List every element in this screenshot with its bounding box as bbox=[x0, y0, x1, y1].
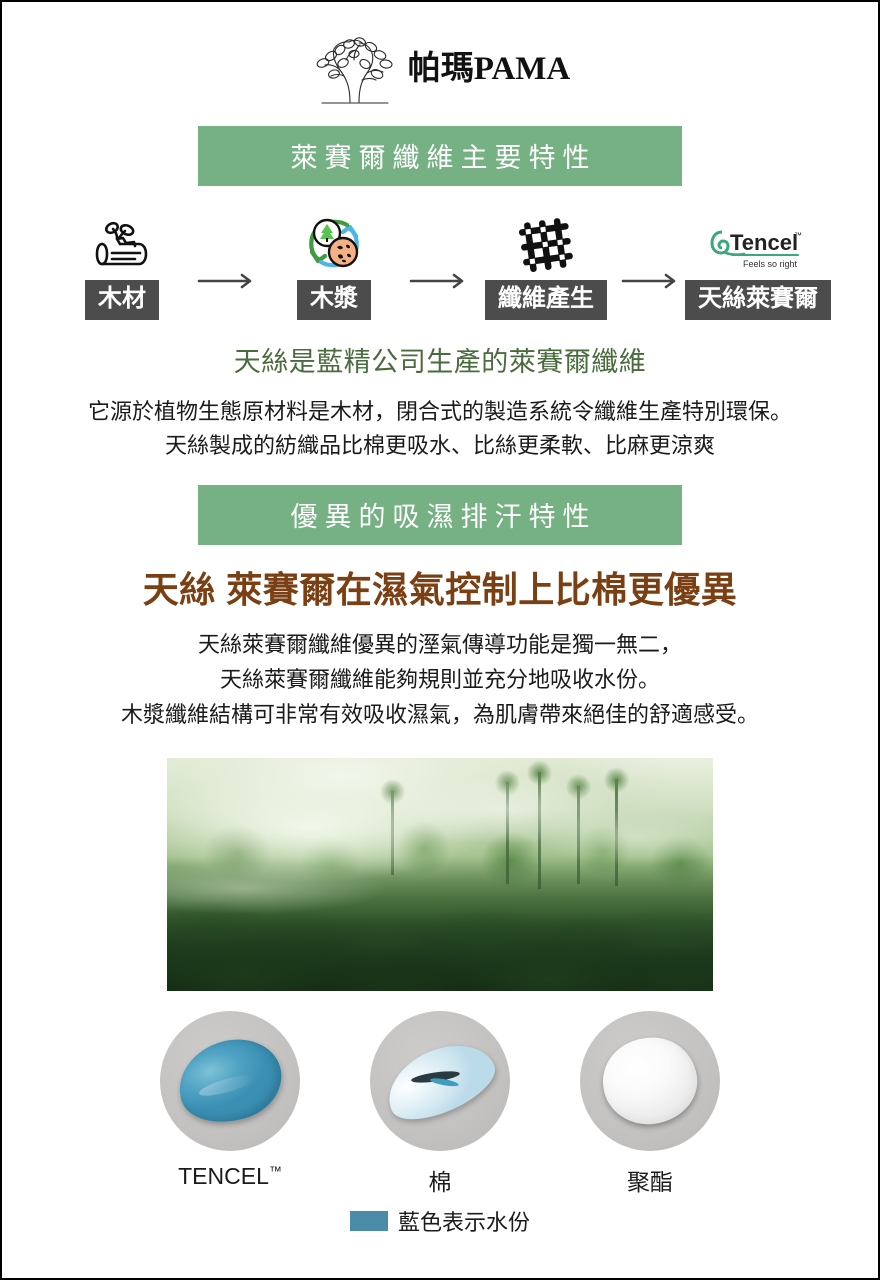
white-round-fiber-cross-section bbox=[597, 1032, 702, 1130]
legend-label: 藍色表示水份 bbox=[398, 1205, 530, 1237]
moisture-legend: 藍色表示水份 bbox=[2, 1205, 878, 1237]
fiber-disc-tencel bbox=[160, 1011, 300, 1151]
arrow-right-icon-3 bbox=[619, 248, 685, 314]
fiber-disc-polyester bbox=[580, 1011, 720, 1151]
forest-canopy-front bbox=[167, 912, 713, 991]
fiber-label-cotton: 棉 bbox=[370, 1163, 510, 1197]
fiber-sample-tencel: TENCEL™ bbox=[160, 1011, 300, 1190]
section-banner-moisture: 優異的吸濕排汗特性 bbox=[198, 485, 682, 545]
fiber-label-tencel-tm: ™ bbox=[269, 1164, 282, 1179]
solid-blue-oval-fiber-cross-section bbox=[169, 1029, 291, 1135]
detail-line-2: 天絲萊賽爾纖維能夠規則並充分地吸收水份。 bbox=[2, 662, 878, 697]
detail-paragraph: 天絲萊賽爾纖維優異的溼氣傳導功能是獨一無二， 天絲萊賽爾纖維能夠規則並充分地吸收… bbox=[2, 627, 878, 733]
forest-photo bbox=[167, 758, 713, 991]
fiber-sample-polyester: 聚酯 bbox=[580, 1011, 720, 1197]
brand-header: 帕瑪PAMA bbox=[2, 2, 878, 114]
flow-label-pulp: 木漿 bbox=[297, 280, 371, 320]
flow-step-pulp: 木漿 bbox=[261, 208, 407, 320]
flow-step-fiber: 纖維產生 bbox=[473, 208, 619, 320]
infographic-page: 帕瑪PAMA 萊賽爾纖維主要特性 木材 bbox=[0, 0, 880, 1280]
tencel-trademark: ™ bbox=[794, 231, 802, 240]
tencel-logo-icon: Tencel ™ Feels so right bbox=[706, 208, 810, 274]
arrow-right-icon-2 bbox=[407, 248, 473, 314]
intro-line-1: 它源於植物生態原材料是木材，閉合式的製造系統令纖維生產特別環保。 bbox=[2, 395, 878, 429]
recycle-pulp-icon bbox=[303, 208, 365, 274]
fiber-label-tencel-text: TENCEL bbox=[178, 1163, 269, 1189]
tencel-wordmark: Tencel bbox=[730, 230, 798, 255]
log-wood-icon bbox=[90, 208, 154, 274]
flow-label-wood: 木材 bbox=[85, 280, 159, 320]
flow-step-tencel: Tencel ™ Feels so right 天絲萊賽爾 bbox=[685, 208, 831, 320]
flow-label-fiber: 纖維產生 bbox=[485, 280, 607, 320]
detail-line-1: 天絲萊賽爾纖維優異的溼氣傳導功能是獨一無二， bbox=[2, 627, 878, 662]
fiber-label-polyester: 聚酯 bbox=[580, 1163, 720, 1197]
intro-paragraph: 它源於植物生態原材料是木材，閉合式的製造系統令纖維生產特別環保。 天絲製成的紡織… bbox=[2, 395, 878, 463]
flow-step-wood: 木材 bbox=[49, 208, 195, 320]
fiber-sample-cotton: 棉 bbox=[370, 1011, 510, 1197]
fiber-label-tencel: TENCEL™ bbox=[160, 1163, 300, 1190]
tree-line-art-icon bbox=[310, 30, 402, 108]
legend-color-swatch bbox=[350, 1211, 388, 1231]
page-heading-moisture: 天絲 萊賽爾在濕氣控制上比棉更優異 bbox=[2, 561, 878, 613]
arrow-right-icon bbox=[195, 248, 261, 314]
process-flow: 木材 bbox=[2, 208, 878, 320]
brand-name: 帕瑪PAMA bbox=[408, 53, 571, 86]
fiber-disc-cotton bbox=[370, 1011, 510, 1151]
flow-label-tencel: 天絲萊賽爾 bbox=[685, 280, 831, 320]
fiber-comparison: TENCEL™ 棉 聚酯 bbox=[2, 1011, 878, 1197]
intro-line-2: 天絲製成的紡織品比棉更吸水、比絲更柔軟、比麻更涼爽 bbox=[2, 429, 878, 463]
pale-blue-kidney-fiber-cross-section bbox=[376, 1030, 504, 1132]
green-subtitle: 天絲是藍精公司生產的萊賽爾纖維 bbox=[2, 340, 878, 379]
woven-fiber-icon bbox=[517, 208, 575, 274]
tencel-tagline: Feels so right bbox=[743, 259, 798, 269]
detail-line-3: 木漿纖維結構可非常有效吸收濕氣，為肌膚帶來絕佳的舒適感受。 bbox=[2, 697, 878, 732]
section-banner-features: 萊賽爾纖維主要特性 bbox=[198, 126, 682, 186]
